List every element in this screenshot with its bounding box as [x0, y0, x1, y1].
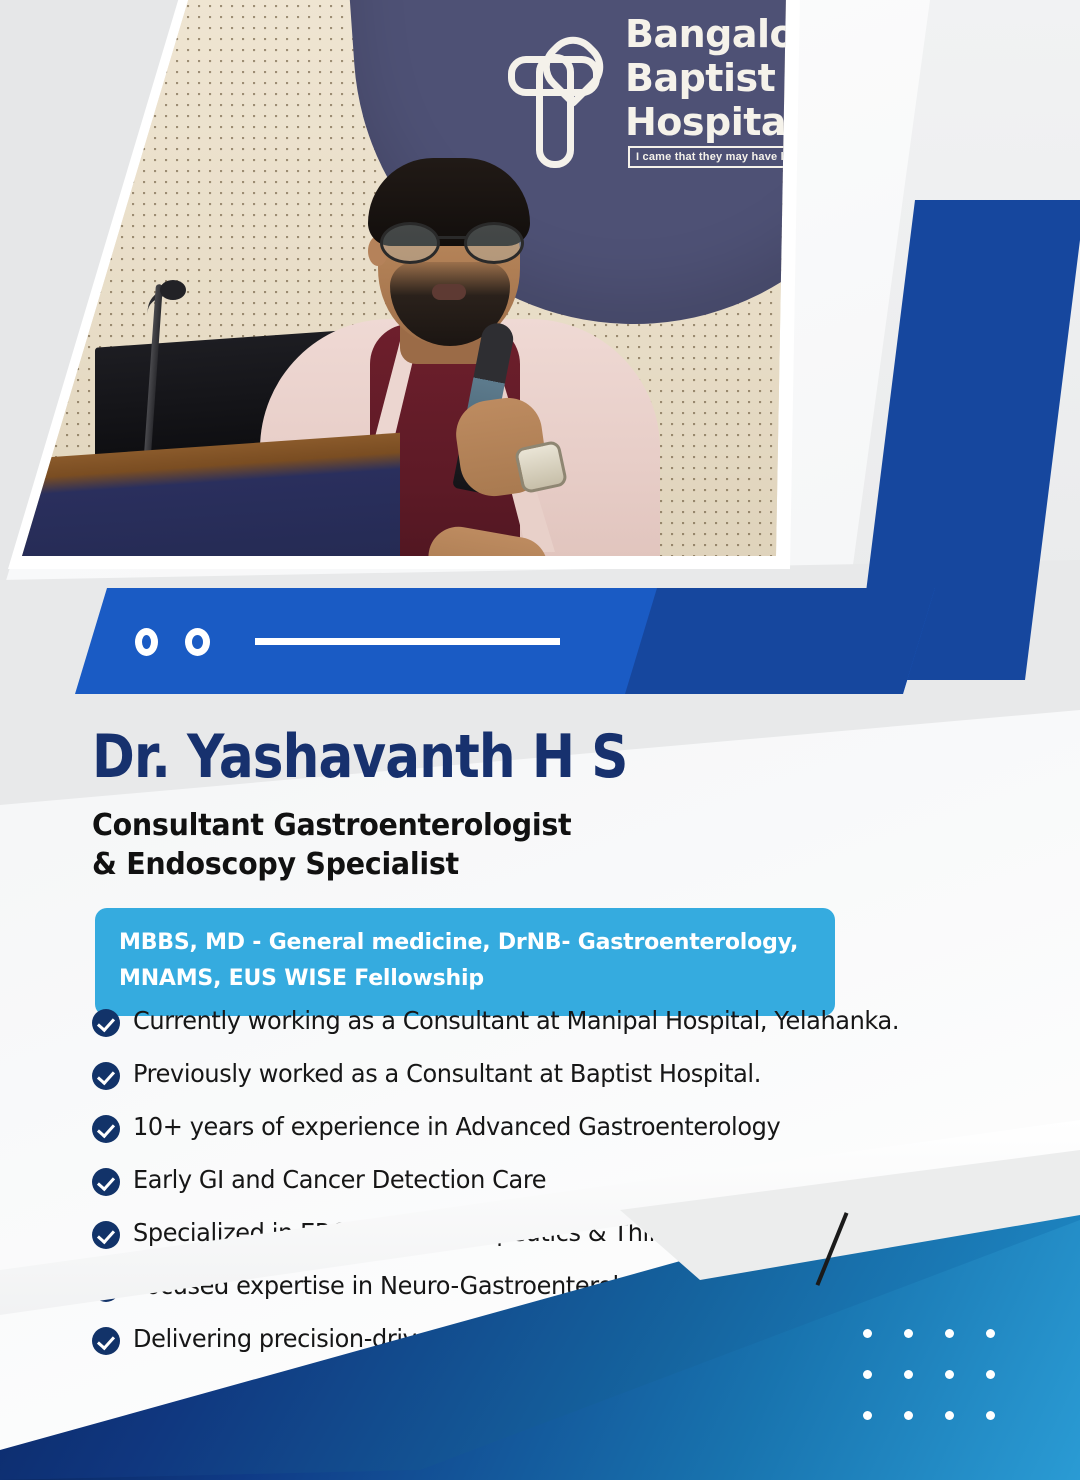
dot: [863, 1329, 872, 1338]
check-circle-icon: [92, 1009, 120, 1037]
doctor-role-line-1: Consultant Gastroenterologist: [92, 806, 571, 845]
dot: [863, 1370, 872, 1379]
circle-outline-icon: [135, 628, 158, 656]
speaker-wristwatch: [514, 440, 569, 495]
check-circle-icon: [92, 1327, 120, 1355]
credentials-badge: MBBS, MD - General medicine, DrNB- Gastr…: [95, 908, 835, 1016]
check-circle-icon: [92, 1221, 120, 1249]
dot: [904, 1411, 913, 1420]
wooden-podium: [20, 433, 400, 584]
list-item: Previously worked as a Consultant at Bap…: [92, 1057, 1052, 1091]
doctor-name: Dr. Yashavanth H S: [92, 722, 628, 792]
podium-mic-head: [160, 280, 186, 300]
credentials-line-1: MBBS, MD - General medicine, DrNB- Gastr…: [119, 925, 811, 961]
check-circle-icon: [92, 1115, 120, 1143]
dot: [945, 1411, 954, 1420]
dot: [986, 1329, 995, 1338]
doctor-profile-poster: Bangalore Baptist Hospital I came that t…: [0, 0, 1080, 1480]
list-item-label: Previously worked as a Consultant at Bap…: [133, 1057, 761, 1091]
hospital-logo-line-2: Baptist: [625, 56, 800, 100]
decorative-dot-grid: [863, 1329, 995, 1420]
list-item: Currently working as a Consultant at Man…: [92, 1004, 1052, 1038]
divider-line: [255, 638, 560, 645]
dot: [986, 1370, 995, 1379]
list-item-label: 10+ years of experience in Advanced Gast…: [133, 1110, 780, 1144]
credentials-line-2: MNAMS, EUS WISE Fellowship: [119, 961, 811, 997]
divider-dark-segment: [625, 588, 935, 694]
doctor-role: Consultant Gastroenterologist & Endoscop…: [92, 806, 571, 884]
list-item: 10+ years of experience in Advanced Gast…: [92, 1110, 1052, 1144]
hospital-logo-text: Bangalore Baptist Hospital: [625, 12, 800, 144]
check-circle-icon: [92, 1168, 120, 1196]
list-item-label: Currently working as a Consultant at Man…: [133, 1004, 899, 1038]
circle-outline-icon: [185, 628, 210, 656]
hospital-logo-line-1: Bangalore: [625, 12, 800, 56]
doctor-role-line-2: & Endoscopy Specialist: [92, 845, 571, 884]
dot: [945, 1329, 954, 1338]
dot: [904, 1329, 913, 1338]
speaker-mouth: [432, 284, 466, 300]
dot: [904, 1370, 913, 1379]
list-item-label: Early GI and Cancer Detection Care: [133, 1163, 546, 1197]
hospital-logo-line-3: Hospital: [625, 100, 800, 144]
blue-divider-bar: [75, 588, 935, 694]
dot: [945, 1370, 954, 1379]
dot: [986, 1411, 995, 1420]
decorative-slash-mark: [800, 1210, 890, 1300]
check-circle-icon: [92, 1062, 120, 1090]
dot: [863, 1411, 872, 1420]
speaker-eyeglasses: [376, 222, 524, 258]
